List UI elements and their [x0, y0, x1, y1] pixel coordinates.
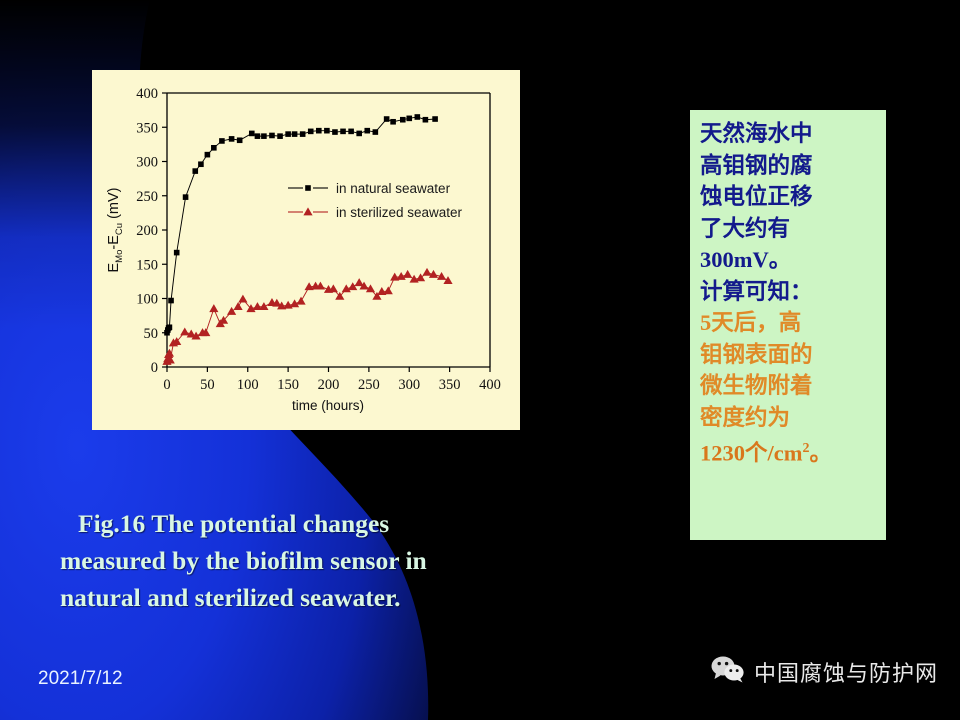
green-line-5: 300mV。 [700, 244, 880, 276]
data-point-square [277, 133, 283, 139]
data-point-triangle [233, 302, 242, 310]
green-line-8: 钼钢表面的 [700, 339, 880, 371]
data-point-square [249, 131, 255, 137]
caption-line-2: measured by the biofilm sensor in [60, 542, 640, 579]
x-tick-label: 100 [237, 377, 259, 393]
x-tick-label: 350 [439, 377, 461, 393]
green-line-7: 5天后，高 [700, 307, 880, 339]
density-value: 1230个/cm [700, 441, 802, 466]
data-point-square [356, 131, 362, 137]
x-tick-label: 50 [200, 377, 215, 393]
y-tick-label: 400 [136, 86, 158, 102]
data-point-triangle [238, 295, 247, 303]
data-point-triangle [443, 276, 452, 284]
data-point-triangle [303, 207, 312, 215]
data-point-square [183, 194, 189, 200]
x-tick-label: 200 [318, 377, 340, 393]
green-line-11: 1230个/cm2。 [700, 433, 880, 469]
caption-line-1: Fig.16 The potential changes [60, 505, 640, 542]
data-point-square [269, 133, 275, 139]
green-line-10: 密度约为 [700, 402, 880, 434]
data-point-square [423, 117, 429, 123]
y-tick-label: 350 [136, 120, 158, 136]
green-line-2: 高钼钢的腐 [700, 150, 880, 182]
series-triangle [162, 268, 452, 365]
data-point-square [324, 128, 330, 134]
green-line-3: 蚀电位正移 [700, 181, 880, 213]
green-line-6: 计算可知： [700, 276, 880, 308]
y-tick-label: 300 [136, 155, 158, 171]
date-stamp: 2021/7/12 [38, 668, 123, 690]
green-line-4: 了大约有 [700, 213, 880, 245]
data-point-square [192, 168, 198, 174]
data-point-square [415, 114, 421, 120]
data-point-square [384, 116, 390, 122]
chart-legend: in natural seawaterin sterilized seawate… [288, 181, 463, 220]
axes-frame [167, 93, 490, 367]
data-point-triangle [209, 304, 218, 312]
data-point-triangle [384, 286, 393, 294]
x-tick-label: 150 [277, 377, 299, 393]
svg-text:EMo-ECu (mV): EMo-ECu (mV) [106, 188, 125, 273]
y-tick-label: 150 [136, 257, 158, 273]
y-tick-label: 200 [136, 223, 158, 239]
data-point-triangle [180, 327, 189, 335]
data-point-square [198, 161, 204, 167]
green-line-9: 微生物附着 [700, 370, 880, 402]
data-point-square [285, 131, 291, 137]
legend-label: in natural seawater [336, 181, 451, 196]
data-point-square [237, 137, 243, 143]
data-point-square [261, 133, 267, 139]
y-tick-label: 250 [136, 189, 158, 205]
data-point-square [348, 129, 354, 135]
x-tick-label: 250 [358, 377, 380, 393]
x-axis-label: time (hours) [292, 398, 364, 413]
data-point-square [316, 128, 322, 134]
wechat-icon [711, 655, 745, 688]
y-tick-label: 0 [151, 360, 158, 376]
data-point-square [332, 129, 338, 135]
x-tick-labels: 050100150200250300350400 [163, 377, 501, 393]
density-period: 。 [809, 441, 832, 466]
data-series-layer [162, 114, 452, 365]
x-tick-label: 300 [398, 377, 420, 393]
data-point-square [364, 128, 370, 134]
y-axis-label: EMo-ECu (mV) [106, 188, 125, 273]
data-point-square [167, 324, 173, 330]
axis-ticks [162, 93, 490, 372]
data-point-square [205, 152, 211, 158]
data-point-square [432, 116, 438, 122]
annotation-text-box: 天然海水中 高钼钢的腐 蚀电位正移 了大约有 300mV。 计算可知： 5天后，… [690, 110, 886, 540]
x-tick-label: 400 [479, 377, 501, 393]
data-point-square [174, 250, 180, 256]
footer-branding: 中国腐蚀与防护网 [711, 655, 938, 688]
data-point-square [390, 119, 396, 125]
data-point-square [305, 185, 311, 191]
data-point-triangle [296, 297, 305, 305]
legend-label: in sterilized seawater [336, 205, 463, 220]
data-point-triangle [422, 268, 431, 276]
figure-caption: Fig.16 The potential changes measured by… [60, 505, 640, 616]
data-point-square [406, 116, 412, 122]
data-point-square [229, 136, 235, 142]
y-tick-labels: 050100150200250300350400 [136, 86, 158, 376]
legend-item-0[interactable]: in natural seawater [288, 181, 451, 196]
y-tick-label: 100 [136, 292, 158, 308]
data-point-square [400, 117, 406, 123]
data-point-square [168, 298, 174, 304]
data-point-square [300, 131, 306, 137]
data-point-square [373, 129, 379, 135]
data-point-square [340, 129, 346, 135]
x-tick-label: 0 [163, 377, 170, 393]
data-point-triangle [403, 270, 412, 278]
data-point-triangle [259, 302, 268, 310]
data-point-square [255, 133, 261, 139]
data-point-square [308, 129, 314, 135]
caption-line-3: natural and sterilized seawater. [60, 579, 640, 616]
data-point-triangle [348, 282, 357, 290]
green-line-1: 天然海水中 [700, 118, 880, 150]
data-point-square [292, 131, 298, 137]
chart-plot: 050100150200250300350400 050100150200250… [92, 70, 520, 430]
legend-item-1[interactable]: in sterilized seawater [288, 205, 463, 220]
y-tick-label: 50 [144, 326, 159, 342]
figure-panel: 050100150200250300350400 050100150200250… [92, 70, 520, 430]
brand-name: 中国腐蚀与防护网 [754, 656, 938, 688]
data-point-square [219, 138, 225, 144]
data-point-square [211, 145, 217, 151]
